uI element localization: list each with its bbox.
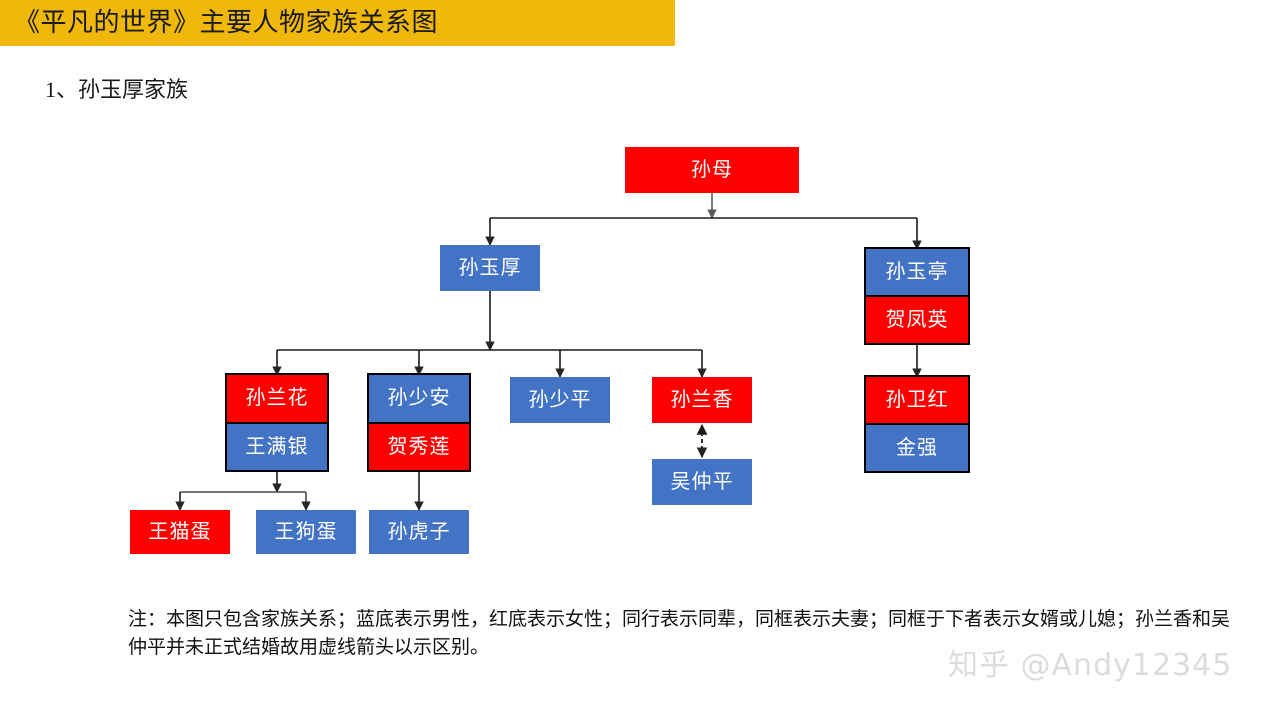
edge-wangmanyin-to-children (180, 470, 306, 510)
node-label-sunweihong: 孙卫红 (866, 377, 968, 423)
node-label-sunshaoan: 孙少安 (369, 375, 469, 422)
node-label-hexiulian: 贺秀莲 (369, 422, 469, 471)
node-wanggoudan[interactable]: 王狗蛋 (256, 510, 356, 554)
node-label-wangmaodan: 王猫蛋 (130, 510, 230, 554)
node-label-wuzhongping: 吴仲平 (652, 459, 752, 505)
watermark: 知乎 @Andy12345 (948, 640, 1232, 684)
node-couple-sunshaoan-hexiulian[interactable]: 孙少安 贺秀莲 (367, 373, 471, 472)
node-couple-sunyuting-hefengying[interactable]: 孙玉亭 贺凤英 (864, 247, 970, 345)
node-sunshaoping[interactable]: 孙少平 (510, 377, 610, 423)
node-sunlanxiang[interactable]: 孙兰香 (652, 377, 752, 423)
node-couple-sunlanhua-wangmanyin[interactable]: 孙兰花 王满银 (225, 373, 329, 472)
node-label-sunhuzi: 孙虎子 (369, 510, 469, 554)
node-couple-sunweihong-jinqiang[interactable]: 孙卫红 金强 (864, 375, 970, 473)
node-label-jinqiang: 金强 (866, 423, 968, 471)
edge-sunyuhou-to-bus (277, 291, 702, 377)
node-sunhuzi[interactable]: 孙虎子 (369, 510, 469, 554)
edge-bus-generation-1 (490, 218, 917, 249)
node-label-sunlanxiang: 孙兰香 (652, 377, 752, 423)
node-wangmaodan[interactable]: 王猫蛋 (130, 510, 230, 554)
node-label-wanggoudan: 王狗蛋 (256, 510, 356, 554)
node-sunyuhou[interactable]: 孙玉厚 (440, 245, 540, 291)
node-label-sunlanhua: 孙兰花 (227, 375, 327, 422)
node-label-sunmu: 孙母 (625, 147, 799, 193)
node-label-sunyuting: 孙玉亭 (866, 249, 968, 295)
node-label-sunshaoping: 孙少平 (510, 377, 610, 423)
node-label-wangmanyin: 王满银 (227, 422, 327, 471)
node-label-hefengying: 贺凤英 (866, 295, 968, 343)
node-label-sunyuhou: 孙玉厚 (440, 245, 540, 291)
node-sunmu[interactable]: 孙母 (625, 147, 799, 193)
node-wuzhongping[interactable]: 吴仲平 (652, 459, 752, 505)
